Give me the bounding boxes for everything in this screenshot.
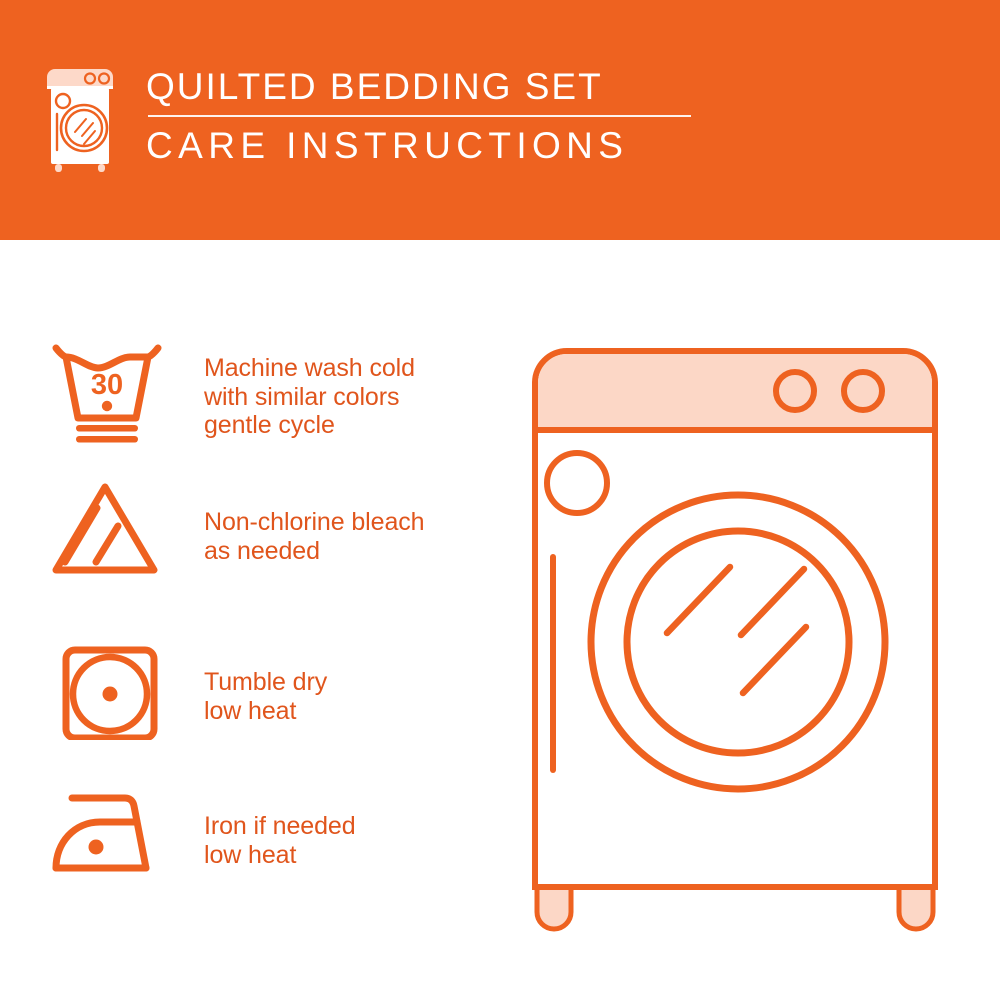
care-line-2: low heat xyxy=(204,841,356,870)
care-line-2: as needed xyxy=(204,537,424,566)
care-item-text-machine-wash: Machine wash cold with similar colors ge… xyxy=(204,354,415,440)
title-divider xyxy=(148,115,691,117)
wash-tub-30-gentle-icon: 30 xyxy=(52,340,162,445)
washing-machine-illustration xyxy=(495,335,975,935)
care-item-text-bleach: Non-chlorine bleach as needed xyxy=(204,508,424,565)
care-line-1: Tumble dry xyxy=(204,668,327,697)
care-line-1: Machine wash cold xyxy=(204,354,415,383)
care-item-text-iron: Iron if needed low heat xyxy=(204,812,356,869)
tumble-dry-low-heat-icon xyxy=(52,640,162,740)
page-subtitle: CARE INSTRUCTIONS xyxy=(146,123,766,169)
care-line-1: Iron if needed xyxy=(204,812,356,841)
iron-low-heat-icon xyxy=(52,788,172,878)
washing-machine-icon xyxy=(44,66,116,174)
header-banner: QUILTED BEDDING SET CARE INSTRUCTIONS xyxy=(0,0,1000,240)
care-line-2: low heat xyxy=(204,697,327,726)
bleach-triangle-non-chlorine-icon xyxy=(52,482,162,577)
header-text-block: QUILTED BEDDING SET CARE INSTRUCTIONS xyxy=(146,64,766,169)
care-line-1: Non-chlorine bleach xyxy=(204,508,424,537)
care-instructions-page: QUILTED BEDDING SET CARE INSTRUCTIONS 30 xyxy=(0,0,1000,1000)
page-title: QUILTED BEDDING SET xyxy=(146,64,766,110)
care-item-text-tumble-dry: Tumble dry low heat xyxy=(204,668,327,725)
wash-temperature-label: 30 xyxy=(91,369,123,401)
care-line-2: with similar colors xyxy=(204,383,415,412)
care-instructions-list: 30 Machine wash cold with similar colors… xyxy=(0,240,480,1000)
care-line-3: gentle cycle xyxy=(204,411,415,440)
